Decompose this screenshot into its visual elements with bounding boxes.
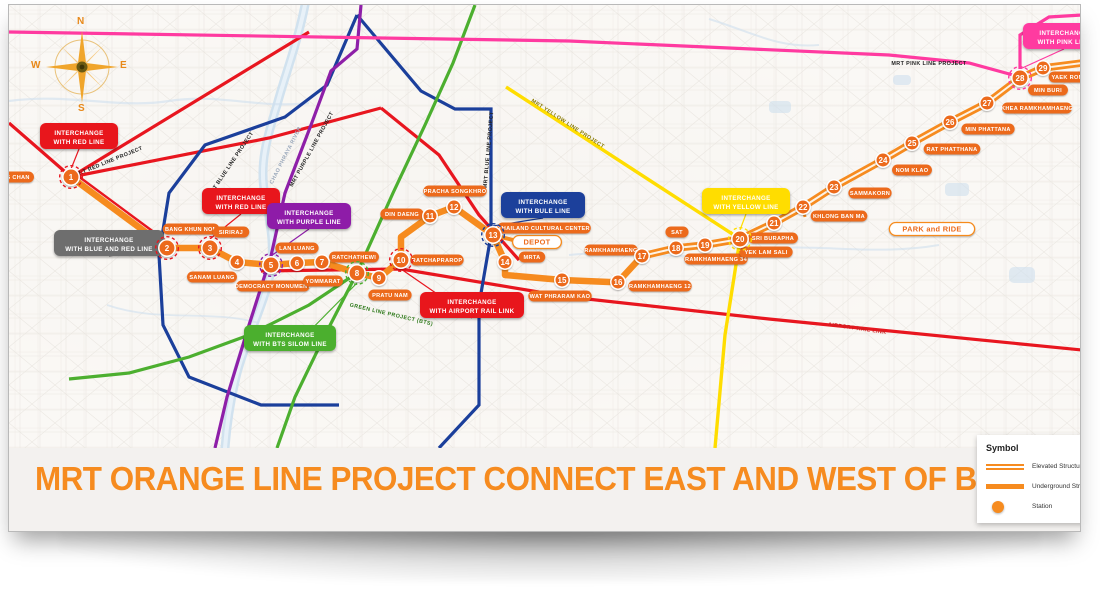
- station-badge-11[interactable]: 11: [423, 209, 437, 223]
- legend-item-underground: Underground Structure: [986, 481, 1081, 492]
- interchange-tag-line: INTERCHANGE: [447, 299, 496, 306]
- station-label-28[interactable]: MIN BURI: [1028, 85, 1068, 96]
- interchange-tag-line: WITH BLUE AND RED LINE: [65, 246, 153, 253]
- station-label-text: WAT PHRARAM KAO: [530, 294, 591, 300]
- facility-park-and-ride: PARK and RIDE: [889, 223, 974, 236]
- interchange-tag-line: INTERCHANGE: [54, 130, 103, 137]
- compass-rose-svg: [33, 17, 131, 115]
- screenshot-root: MRT RED LINE PROJECTMRT BLUE LINE PROJEC…: [0, 0, 1100, 600]
- station-number: 11: [426, 212, 435, 221]
- station-label-13[interactable]: THAILAND CULTURAL CENTER: [497, 223, 591, 234]
- station-badge-16[interactable]: 16: [611, 275, 625, 289]
- facility-label: PARK and RIDE: [902, 225, 961, 234]
- station-badge-4[interactable]: 4: [230, 255, 244, 269]
- line-label-8: MRT PINK LINE PROJECT: [891, 61, 966, 67]
- station-number: 4: [235, 258, 240, 267]
- station-label-12[interactable]: PRACHA SONGKHRO: [423, 186, 486, 197]
- station-label-text: NOM KLAO: [896, 168, 929, 174]
- station-label-22[interactable]: KHLONG BAN MA: [811, 211, 868, 222]
- legend-item-elevated: Elevated Structure: [986, 461, 1081, 472]
- station-number: 20: [736, 235, 745, 244]
- station-label-27[interactable]: KHEA RAMKHAMHAENG: [1001, 103, 1073, 114]
- interchange-tag-line: WITH PURPLE LINE: [277, 219, 341, 226]
- station-label-text: RAT PHATTHANA: [927, 147, 978, 153]
- transit-map-svg[interactable]: MRT RED LINE PROJECTMRT BLUE LINE PROJEC…: [9, 5, 1081, 448]
- legend-title: Symbol: [986, 443, 1081, 453]
- station-label-9[interactable]: PRATU NAM: [368, 290, 411, 301]
- station-label-8[interactable]: RATCHATHEWI: [329, 252, 379, 263]
- station-badge-15[interactable]: 15: [555, 273, 569, 287]
- interchange-tag-line: INTERCHANGE: [721, 195, 770, 202]
- station-label-2[interactable]: BANG KHUN NON: [163, 224, 220, 235]
- station-badge-25[interactable]: 25: [905, 136, 919, 150]
- map-card: MRT RED LINE PROJECTMRT BLUE LINE PROJEC…: [8, 4, 1081, 532]
- station-number: 17: [638, 252, 647, 261]
- station-number: 5: [269, 261, 274, 270]
- station-label-25[interactable]: RAT PHATTHANA: [924, 144, 981, 155]
- interchange-tag-line: INTERCHANGE: [1039, 30, 1081, 37]
- interchange-tag-line: WITH YELLOW LINE: [713, 204, 778, 211]
- station-number: 27: [983, 99, 992, 108]
- station-number: 8: [355, 269, 360, 278]
- facility-label: DEPOT: [524, 238, 551, 247]
- interchange-tag-line: WITH PINK LINE: [1037, 39, 1081, 46]
- station-label-11[interactable]: DIN DAENG: [380, 209, 423, 220]
- station-label-10[interactable]: RATCHAPRAROP: [410, 255, 463, 266]
- station-number: 2: [165, 244, 170, 253]
- station-label-text: MIN PHATTANA: [965, 127, 1010, 133]
- station-number: 25: [908, 139, 917, 148]
- station-number: 28: [1016, 74, 1025, 83]
- station-label-3[interactable]: SIRIRAJ: [213, 227, 250, 238]
- station-badge-26[interactable]: 26: [943, 115, 957, 129]
- station-label-text: SIRIRAJ: [219, 230, 243, 236]
- facility-depot: DEPOT: [513, 236, 562, 249]
- station-number: 29: [1039, 64, 1048, 73]
- station-number: 15: [558, 276, 567, 285]
- station-label-5[interactable]: DEMOCRACY MONUMENT: [235, 281, 312, 292]
- station-label-text: DIN DAENG: [385, 212, 419, 218]
- station-label-15[interactable]: WAT PHRARAM KAO: [528, 291, 591, 302]
- station-number: 19: [701, 241, 710, 250]
- interchange-tag-line: INTERCHANGE: [518, 199, 567, 206]
- station-badge-12[interactable]: 12: [447, 200, 461, 214]
- station-number: 21: [770, 219, 779, 228]
- underground-structure-icon: [986, 484, 1026, 489]
- legend-item-station: Station: [986, 501, 1081, 512]
- compass-east-label: E: [120, 60, 127, 71]
- station-label-text: YOMMARAT: [306, 279, 341, 285]
- station-badge-18[interactable]: 18: [669, 241, 683, 255]
- station-number: 24: [879, 156, 888, 165]
- station-label-19[interactable]: RAMKHAMHAENG 34: [684, 254, 747, 265]
- station-number: 10: [397, 256, 406, 265]
- station-badge-19[interactable]: 19: [698, 238, 712, 252]
- compass-west-label: W: [31, 60, 40, 71]
- station-badge-9[interactable]: 9: [372, 271, 386, 285]
- interchange-tag-line: INTERCHANGE: [284, 210, 333, 217]
- compass-rose: N S E W: [33, 17, 131, 115]
- station-label-text: LAN LUANG: [279, 246, 315, 252]
- station-label-text: KHLONG BAN MA: [813, 214, 865, 220]
- station-label-text: DEMOCRACY MONUMENT: [235, 284, 312, 290]
- station-label-18[interactable]: SAT: [665, 227, 688, 238]
- station-badge-7[interactable]: 7: [315, 255, 329, 269]
- station-label-29[interactable]: YAEK ROM KLAO: [1049, 72, 1081, 83]
- station-label-text: RATCHATHEWI: [332, 255, 376, 261]
- station-number: 12: [450, 203, 459, 212]
- station-number: 26: [946, 118, 955, 127]
- interchange-tag-line: WITH BTS SILOM LINE: [253, 341, 327, 348]
- map-canvas[interactable]: MRT RED LINE PROJECTMRT BLUE LINE PROJEC…: [9, 5, 1081, 448]
- station-badge-27[interactable]: 27: [980, 96, 994, 110]
- station-number: 13: [489, 231, 498, 240]
- station-label-26[interactable]: MIN PHATTANA: [961, 124, 1014, 135]
- title-strip: MRT ORANGE LINE PROJECT CONNECT EAST AND…: [9, 448, 1081, 532]
- station-label-text: YAEK ROM KLAO: [1052, 75, 1081, 81]
- station-badge-24[interactable]: 24: [876, 153, 890, 167]
- station-label-text: BANG KHUN NON: [165, 227, 217, 233]
- station-label-24[interactable]: NOM KLAO: [892, 165, 932, 176]
- station-label-7[interactable]: YOMMARAT: [303, 276, 343, 287]
- station-label-text: SAMMAKORN: [850, 191, 890, 197]
- station-number: 18: [672, 244, 681, 253]
- station-label-text: YEK LAM SALI: [744, 250, 787, 256]
- station-label-4[interactable]: SANAM LUANG: [187, 272, 237, 283]
- card-drop-shadow: [60, 528, 1040, 582]
- station-dot-icon: [986, 501, 1026, 513]
- interchange-tag-line: WITH RED LINE: [216, 204, 267, 211]
- station-label-text: KHEA RAMKHAMHAENG: [1001, 106, 1073, 112]
- interchange-tag-line: INTERCHANGE: [84, 237, 133, 244]
- station-badge-17[interactable]: 17: [635, 249, 649, 263]
- station-label-23[interactable]: SAMMAKORN: [848, 188, 891, 199]
- station-label-1[interactable]: TALING CHAN: [9, 172, 34, 183]
- interchange-tag-line: WITH AIRPORT RAIL LINK: [429, 308, 514, 315]
- legend-panel: Symbol Elevated Structure Underground St…: [977, 435, 1081, 523]
- station-label-20[interactable]: YEK LAM SALI: [739, 247, 792, 258]
- station-number: 23: [830, 183, 839, 192]
- station-number: 22: [799, 203, 808, 212]
- station-label-text: PRATU NAM: [372, 293, 408, 299]
- station-badge-21[interactable]: 21: [767, 216, 781, 230]
- station-badge-22[interactable]: 22: [796, 200, 810, 214]
- station-label-6[interactable]: LAN LUANG: [275, 243, 318, 254]
- interchange-tag-blue-red[interactable]: INTERCHANGEWITH BLUE AND RED LINE: [54, 230, 164, 256]
- station-label-text: SRI BURAPHA: [752, 236, 794, 242]
- station-number: 7: [320, 258, 325, 267]
- station-label-text: RAMKHAMHAENG 12: [629, 284, 691, 290]
- station-badge-29[interactable]: 29: [1036, 61, 1050, 75]
- station-number: 3: [208, 244, 213, 253]
- station-label-text: PRACHA SONGKHRO: [424, 189, 487, 195]
- station-label-14[interactable]: MRTA: [519, 252, 545, 263]
- elevated-structure-icon: [986, 464, 1026, 470]
- legend-label-station: Station: [1032, 503, 1052, 510]
- station-number: 1: [69, 173, 74, 182]
- station-label-text: RAMKHAMHAENG 34: [685, 257, 748, 263]
- legend-label-underground: Underground Structure: [1032, 483, 1081, 490]
- station-badge-23[interactable]: 23: [827, 180, 841, 194]
- compass-south-label: S: [78, 103, 85, 114]
- station-label-text: MRTA: [524, 255, 541, 261]
- station-number: 16: [614, 278, 623, 287]
- station-label-text: SANAM LUANG: [189, 275, 234, 281]
- page-title: MRT ORANGE LINE PROJECT CONNECT EAST AND…: [35, 460, 1081, 498]
- station-label-text: MIN BURI: [1034, 88, 1062, 94]
- interchange-tag-line: INTERCHANGE: [216, 195, 265, 202]
- legend-label-elevated: Elevated Structure: [1032, 463, 1081, 470]
- station-number: 14: [501, 258, 510, 267]
- station-label-text: RAMKHAMHAENG: [584, 248, 637, 254]
- station-label-17[interactable]: RAMKHAMHAENG: [584, 245, 637, 256]
- station-label-text: RATCHAPRAROP: [412, 258, 463, 264]
- station-badge-6[interactable]: 6: [290, 256, 304, 270]
- interchange-tag-line: INTERCHANGE: [265, 332, 314, 339]
- station-label-16[interactable]: RAMKHAMHAENG 12: [628, 281, 691, 292]
- interchange-tag-line: WITH RED LINE: [54, 139, 105, 146]
- station-badge-14[interactable]: 14: [498, 255, 512, 269]
- station-label-21[interactable]: SRI BURAPHA: [748, 233, 798, 244]
- station-label-text: TALING CHAN: [9, 175, 30, 181]
- station-label-text: SAT: [671, 230, 683, 236]
- station-number: 9: [377, 274, 382, 283]
- compass-north-label: N: [77, 16, 84, 27]
- station-number: 6: [295, 259, 300, 268]
- station-label-text: THAILAND CULTURAL CENTER: [498, 226, 590, 232]
- interchange-tag-line: WITH BULE LINE: [515, 208, 570, 215]
